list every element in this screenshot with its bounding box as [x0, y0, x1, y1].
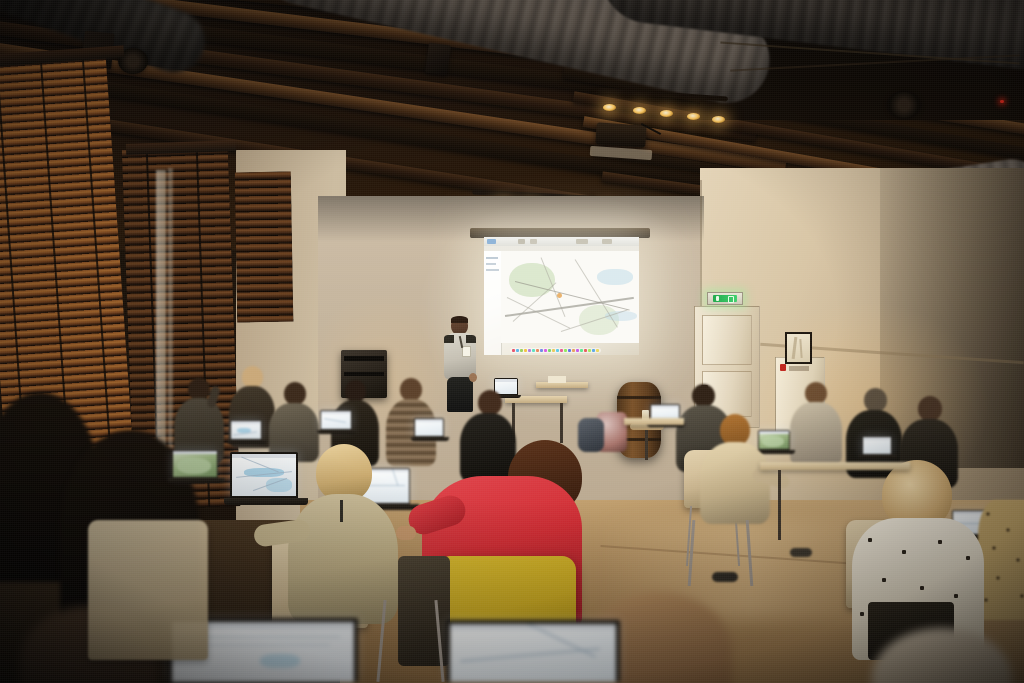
- attendee-laptop[interactable]: [862, 436, 894, 462]
- screen-toolbar: [173, 451, 217, 454]
- attendee-laptop[interactable]: [172, 450, 220, 486]
- paper-stack: [548, 376, 566, 383]
- projected-toolbar-icon: [576, 239, 588, 244]
- attendee-torso: [978, 500, 1024, 620]
- attendee-head: [242, 366, 263, 388]
- foreground-laptop-center[interactable]: [446, 620, 624, 683]
- attendee-laptop[interactable]: [320, 410, 354, 436]
- projected-map-canvas[interactable]: [501, 251, 639, 343]
- window-daylight: [156, 170, 166, 460]
- projection-screen[interactable]: [484, 237, 639, 355]
- training-table: [624, 418, 684, 425]
- emergency-exit-sign: [707, 292, 743, 305]
- dock-icon[interactable]: [528, 349, 531, 352]
- exit-sign-pictogram: [713, 295, 737, 302]
- screen-toolbar: [495, 379, 517, 382]
- dock-icon[interactable]: [512, 349, 515, 352]
- dock-icon[interactable]: [596, 349, 599, 352]
- laptop-base: [859, 455, 897, 459]
- barrel-hoop: [617, 396, 661, 399]
- projected-layer-panel: [484, 251, 502, 355]
- table-leg: [778, 470, 781, 540]
- ceiling-fan-grille: [888, 92, 920, 118]
- table-leg: [560, 403, 563, 443]
- screen-toolbar: [415, 419, 443, 422]
- screen-toolbar: [651, 405, 679, 408]
- laptop-base: [168, 478, 225, 483]
- projected-toolbar-icon: [487, 239, 496, 244]
- attendee-torso: [700, 442, 770, 524]
- dock-icon[interactable]: [584, 349, 587, 352]
- attendee-head: [400, 378, 422, 401]
- dock-icon[interactable]: [552, 349, 555, 352]
- red-safety-sign: [780, 364, 786, 371]
- table-leg: [645, 430, 648, 460]
- picture-detail: [799, 339, 802, 358]
- running-man-icon: [716, 296, 719, 301]
- attendee-hand: [396, 526, 416, 540]
- dock-icon[interactable]: [560, 349, 563, 352]
- attendee-head: [188, 378, 210, 400]
- window-blinds-small: [235, 172, 294, 323]
- projected-sidebar-row: [486, 269, 499, 271]
- attendee-head: [805, 382, 827, 404]
- training-table: [760, 462, 910, 470]
- attendee-head: [345, 380, 366, 402]
- framed-picture-on-cabinet: [785, 332, 812, 364]
- laptop-screen[interactable]: [450, 624, 616, 682]
- track-light: [633, 107, 646, 114]
- attendee-lanyard: [340, 500, 343, 522]
- dock-icon[interactable]: [564, 349, 567, 352]
- projected-toolbar-icon: [530, 239, 537, 244]
- attendee-blonde-beige: [288, 444, 398, 624]
- presenter-shoulder-panel: [466, 335, 476, 343]
- track-light: [660, 110, 673, 117]
- projected-dock[interactable]: [510, 348, 601, 353]
- presenter-hair: [451, 316, 468, 323]
- av-rack-shelf: [344, 356, 384, 361]
- presenter-name-badge: [462, 346, 471, 357]
- attendee-laptop[interactable]: [650, 404, 682, 430]
- track-light: [687, 113, 700, 120]
- dock-icon[interactable]: [580, 349, 583, 352]
- map-water: [260, 654, 300, 668]
- projected-sidebar-row: [486, 263, 496, 265]
- dock-icon[interactable]: [540, 349, 543, 352]
- laptop-screen[interactable]: [173, 451, 217, 477]
- presenter-hand: [469, 373, 477, 382]
- screen-toolbar: [231, 421, 261, 424]
- cabinet-label: [789, 366, 809, 371]
- map-road: [233, 431, 257, 435]
- red-status-led: [1000, 100, 1004, 103]
- screenshot-root: [0, 0, 1024, 683]
- shoe: [712, 572, 738, 582]
- dock-icon[interactable]: [556, 349, 559, 352]
- dock-icon[interactable]: [544, 349, 547, 352]
- dock-icon[interactable]: [520, 349, 523, 352]
- attendee-torso: [790, 402, 842, 466]
- laptop-screen[interactable]: [321, 411, 351, 429]
- shoe: [790, 548, 812, 557]
- exit-door-icon: [728, 296, 734, 303]
- attendee-right-back-2: [790, 382, 842, 466]
- stacking-chair[interactable]: [88, 520, 208, 660]
- dock-icon[interactable]: [532, 349, 535, 352]
- map-water-body: [597, 269, 633, 285]
- attendee-leopard-print: [978, 500, 1024, 620]
- av-rack-shelf: [344, 372, 384, 376]
- attendee-head: [864, 388, 887, 412]
- laptop-base: [227, 440, 267, 444]
- track-light: [603, 104, 616, 111]
- door-panel-upper: [702, 315, 752, 365]
- dock-icon[interactable]: [568, 349, 571, 352]
- attendee-head: [692, 384, 715, 407]
- projected-sidebar-row: [486, 257, 498, 259]
- chair-back-dark: [398, 556, 450, 666]
- map-green-area: [509, 263, 555, 297]
- picture-content: [787, 334, 810, 362]
- laptop-screen[interactable]: [231, 421, 261, 439]
- dock-icon[interactable]: [588, 349, 591, 352]
- laptop-base: [317, 430, 357, 434]
- attendee-torso: [288, 494, 398, 624]
- map-road: [324, 418, 346, 423]
- attendee-laptop[interactable]: [230, 420, 264, 446]
- track-light: [712, 116, 725, 123]
- dock-icon[interactable]: [536, 349, 539, 352]
- screen-toolbar: [863, 437, 891, 440]
- ceiling-speaker: [425, 43, 451, 76]
- dock-icon[interactable]: [592, 349, 595, 352]
- laptop-screen[interactable]: [232, 454, 296, 496]
- laptop-screen[interactable]: [863, 437, 891, 454]
- attendee-head: [918, 396, 942, 421]
- aerial-imagery: [177, 458, 211, 474]
- dock-icon[interactable]: [548, 349, 551, 352]
- picture-detail: [792, 337, 798, 359]
- ceiling-projector: [595, 122, 646, 147]
- map-marker: [557, 293, 562, 298]
- screen-toolbar: [321, 411, 351, 414]
- dock-icon[interactable]: [524, 349, 527, 352]
- dock-icon[interactable]: [572, 349, 575, 352]
- dock-icon[interactable]: [576, 349, 579, 352]
- projected-toolbar-icon: [518, 239, 525, 244]
- laptop-screen[interactable]: [415, 419, 443, 436]
- dock-icon[interactable]: [516, 349, 519, 352]
- presenter-shoulder-panel: [444, 335, 454, 343]
- projected-toolbar-icon: [602, 239, 612, 244]
- attendee-head: [284, 382, 306, 405]
- attendee-head: [478, 390, 502, 415]
